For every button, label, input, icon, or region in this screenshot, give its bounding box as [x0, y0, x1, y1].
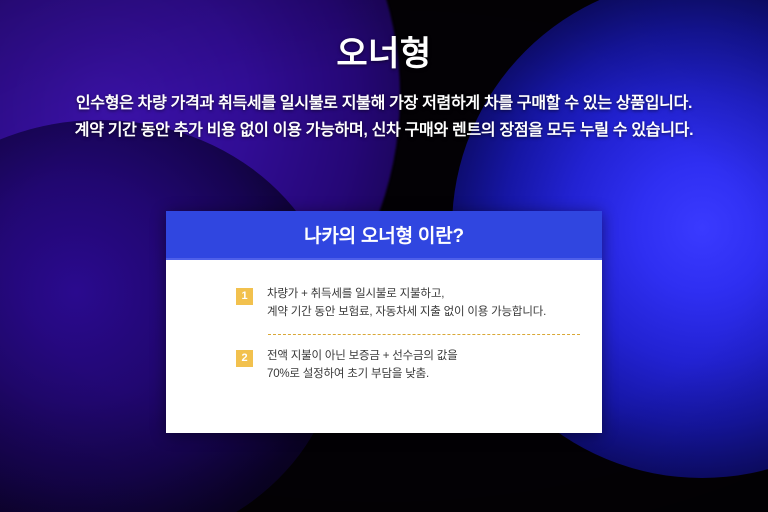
item-number-badge: 2	[236, 350, 253, 367]
item-text-block: 차량가 + 취득세를 일시불로 지불하고, 계약 기간 동안 보험료, 자동차세…	[267, 287, 546, 320]
item-2-line-2: 70%로 설정하여 초기 부담을 낮춤.	[267, 367, 458, 382]
hero-section: 오너형 인수형은 차량 가격과 취득세를 일시불로 지불해 가장 저렴하게 차를…	[0, 32, 768, 142]
info-card-item-2: 2 전액 지불이 아닌 보증금 + 선수금의 값을 70%로 설정하여 초기 부…	[236, 349, 578, 382]
info-card-item-1: 1 차량가 + 취득세를 일시불로 지불하고, 계약 기간 동안 보험료, 자동…	[236, 287, 578, 320]
info-card-body: 1 차량가 + 취득세를 일시불로 지불하고, 계약 기간 동안 보험료, 자동…	[166, 260, 602, 433]
info-card: 나카의 오너형 이란? 1 차량가 + 취득세를 일시불로 지불하고, 계약 기…	[166, 211, 602, 433]
item-number-badge: 1	[236, 288, 253, 305]
hero-subtitle: 인수형은 차량 가격과 취득세를 일시불로 지불해 가장 저렴하게 차를 구매할…	[0, 93, 768, 142]
item-1-line-2: 계약 기간 동안 보험료, 자동차세 지출 없이 이용 가능합니다.	[267, 305, 546, 320]
info-card-header: 나카의 오너형 이란?	[166, 211, 602, 260]
item-divider-dashed	[268, 334, 580, 335]
item-2-line-1: 전액 지불이 아닌 보증금 + 선수금의 값을	[267, 349, 458, 364]
item-text-block: 전액 지불이 아닌 보증금 + 선수금의 값을 70%로 설정하여 초기 부담을…	[267, 349, 458, 382]
hero-subtitle-line-2: 계약 기간 동안 추가 비용 없이 이용 가능하며, 신차 구매와 렌트의 장점…	[0, 120, 768, 142]
info-card-header-title: 나카의 오너형 이란?	[304, 221, 464, 248]
page-title: 오너형	[0, 32, 768, 76]
hero-subtitle-line-1: 인수형은 차량 가격과 취득세를 일시불로 지불해 가장 저렴하게 차를 구매할…	[0, 93, 768, 115]
item-1-line-1: 차량가 + 취득세를 일시불로 지불하고,	[267, 287, 546, 302]
slide-canvas: 오너형 인수형은 차량 가격과 취득세를 일시불로 지불해 가장 저렴하게 차를…	[0, 0, 768, 512]
